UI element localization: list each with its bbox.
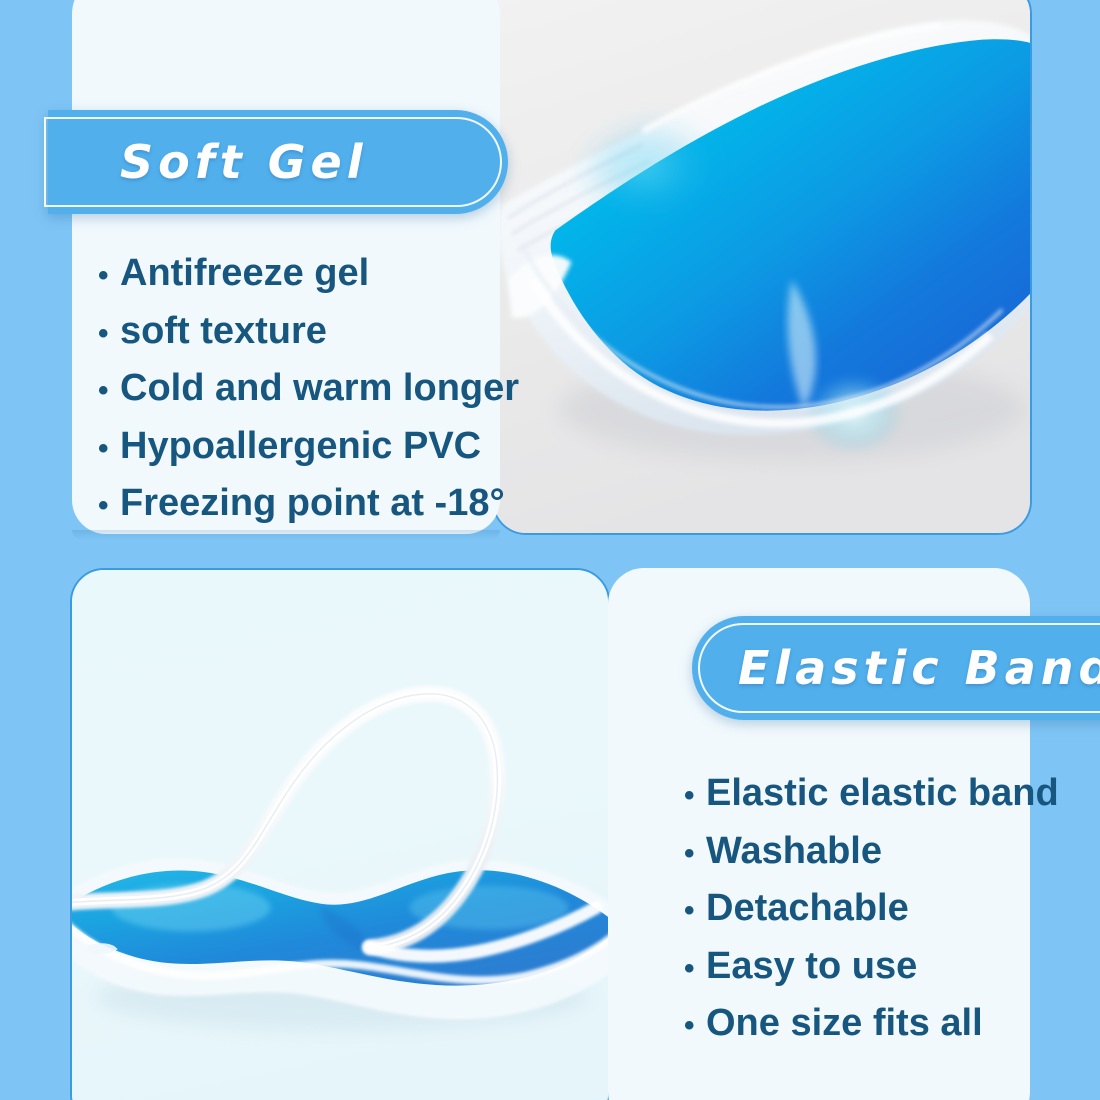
photo-panel-elastic-mask [70,568,610,1100]
list-item: • Detachable [684,881,1034,939]
list-item: • Elastic elastic band [684,766,1034,824]
bullet-marker-icon: • [684,998,706,1054]
bullet-marker-icon: • [684,826,706,882]
list-item: • Freezing point at -18° [98,476,498,534]
badge-soft-gel-label: Soft Gel [120,135,367,189]
list-item: • Antifreeze gel [98,246,498,304]
list-item-label: Hypoallergenic PVC [120,419,481,475]
infographic-canvas: Soft Gel • Antifreeze gel • soft texture… [0,0,1100,1100]
list-item-label: Freezing point at -18° [120,476,505,532]
list-item-label: Easy to use [706,939,917,995]
list-item-label: Cold and warm longer [120,361,519,417]
bullet-marker-icon: • [684,883,706,939]
gel-eye-mask-illustration [494,0,1030,533]
soft-gel-feature-card: Soft Gel • Antifreeze gel • soft texture… [72,0,500,534]
list-item-label: Antifreeze gel [120,246,369,302]
list-item-label: Elastic elastic band [706,766,1059,822]
list-item-label: Detachable [706,881,909,937]
list-item-label: soft texture [120,304,327,360]
bullet-marker-icon: • [98,421,120,477]
badge-elastic-band-label: Elastic Band [738,641,1100,695]
badge-elastic-band: Elastic Band [692,616,1100,720]
list-item: • Cold and warm longer [98,361,498,419]
list-item: • Washable [684,824,1034,882]
bullet-marker-icon: • [98,363,120,419]
list-item: • soft texture [98,304,498,362]
list-item-label: One size fits all [706,996,983,1052]
soft-gel-feature-list: • Antifreeze gel • soft texture • Cold a… [98,246,498,534]
photo-panel-gel-mask [492,0,1032,535]
list-item-label: Washable [706,824,882,880]
list-item: • Hypoallergenic PVC [98,419,498,477]
list-item: • Easy to use [684,939,1034,997]
bullet-marker-icon: • [98,248,120,304]
badge-soft-gel: Soft Gel [48,110,508,214]
gel-mask-with-strap-illustration [72,570,608,1100]
list-item: • One size fits all [684,996,1034,1054]
bullet-marker-icon: • [684,768,706,824]
bullet-marker-icon: • [98,478,120,534]
bullet-marker-icon: • [98,306,120,362]
bullet-marker-icon: • [684,941,706,997]
elastic-band-feature-card: Elastic Band • Elastic elastic band • Wa… [608,568,1030,1100]
elastic-band-feature-list: • Elastic elastic band • Washable • Deta… [684,766,1034,1054]
